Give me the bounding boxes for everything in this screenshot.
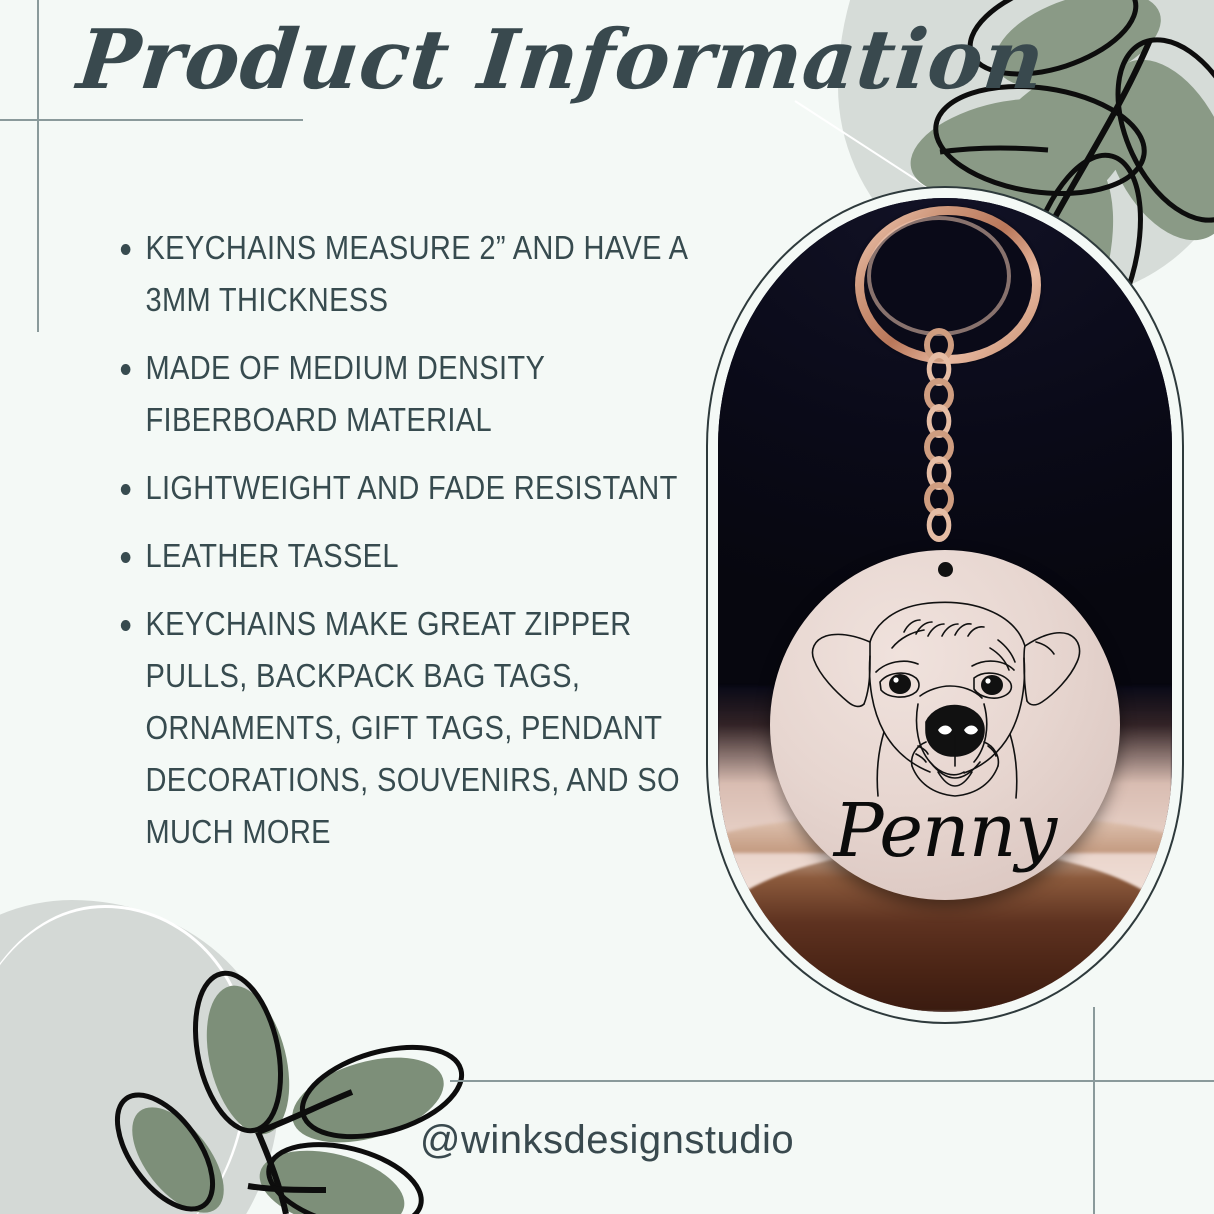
chain-link bbox=[927, 508, 952, 542]
rule-vertical-bottom-right bbox=[1093, 1007, 1095, 1214]
list-item: KEYCHAINS MAKE GREAT ZIPPER PULLS, BACKP… bbox=[112, 598, 709, 858]
rule-vertical-top-left bbox=[37, 0, 39, 332]
list-item: LIGHTWEIGHT AND FADE RESISTANT bbox=[112, 462, 709, 514]
pet-name-engraving: Penny bbox=[770, 792, 1120, 870]
product-photo-frame: Penny bbox=[706, 186, 1184, 1024]
keychain-disc: Penny bbox=[770, 550, 1120, 900]
dog-line-art-portrait-icon bbox=[792, 596, 1098, 811]
footer-social-handle: @winksdesignstudio bbox=[0, 1118, 1214, 1163]
rule-horizontal-bottom-right bbox=[450, 1080, 1214, 1082]
rule-horizontal-top-left bbox=[0, 119, 303, 121]
list-item: LEATHER TASSEL bbox=[112, 530, 709, 582]
split-key-ring-inner bbox=[867, 216, 1011, 336]
list-item: KEYCHAINS MEASURE 2” AND HAVE A 3MM THIC… bbox=[112, 222, 709, 326]
product-photo: Penny bbox=[718, 198, 1172, 1012]
product-information-graphic: Product Information KEYCHAINS MEASURE 2”… bbox=[0, 0, 1214, 1214]
list-item: MADE OF MEDIUM DENSITY FIBERBOARD MATERI… bbox=[112, 342, 709, 446]
page-title: Product Information bbox=[72, 8, 904, 118]
product-features-list: KEYCHAINS MEASURE 2” AND HAVE A 3MM THIC… bbox=[112, 222, 672, 874]
disc-hole bbox=[938, 562, 953, 577]
